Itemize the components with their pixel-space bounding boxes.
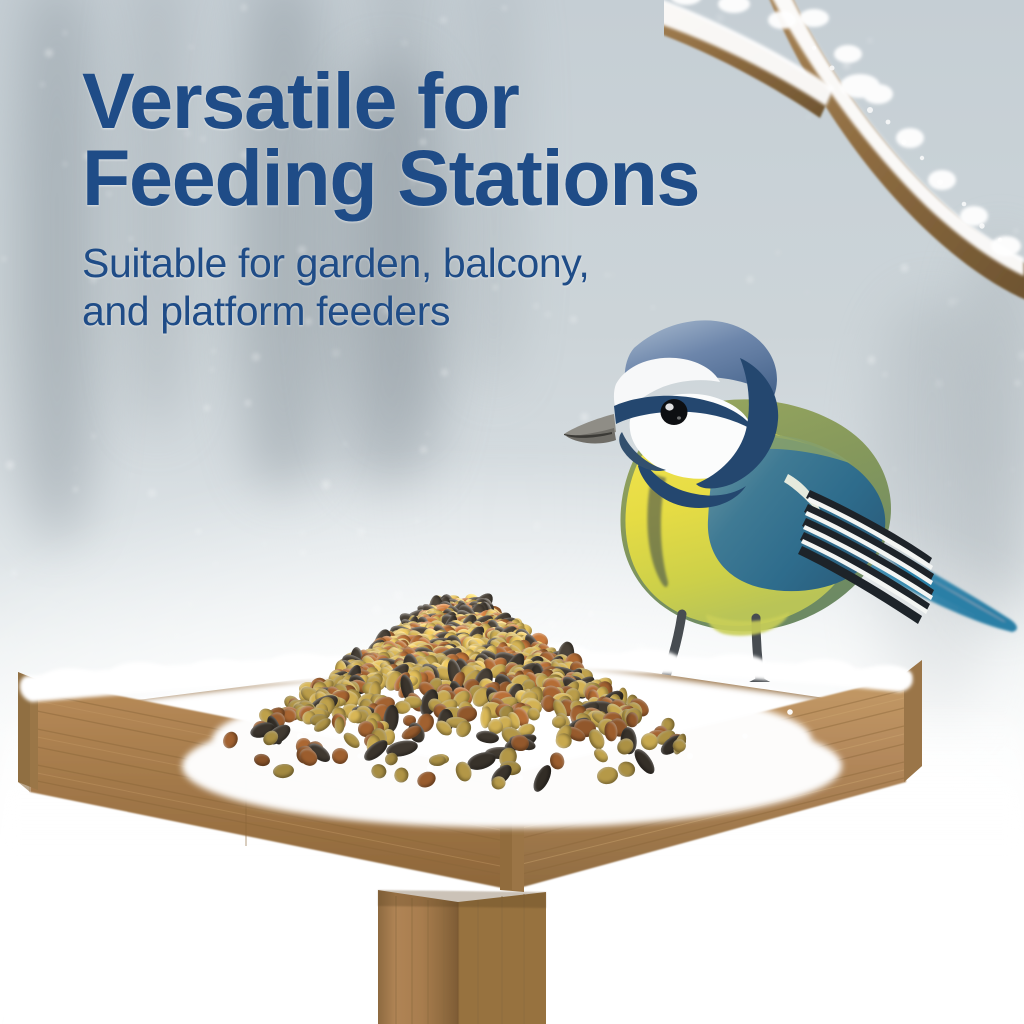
page-title: Versatile for Feeding Stations — [82, 62, 782, 217]
copy-block: Versatile for Feeding Stations Suitable … — [82, 62, 782, 336]
promo-image: Versatile for Feeding Stations Suitable … — [0, 0, 1024, 1024]
page-subtitle: Suitable for garden, balcony, and platfo… — [82, 239, 782, 336]
seed-mix-pile — [0, 560, 1024, 860]
